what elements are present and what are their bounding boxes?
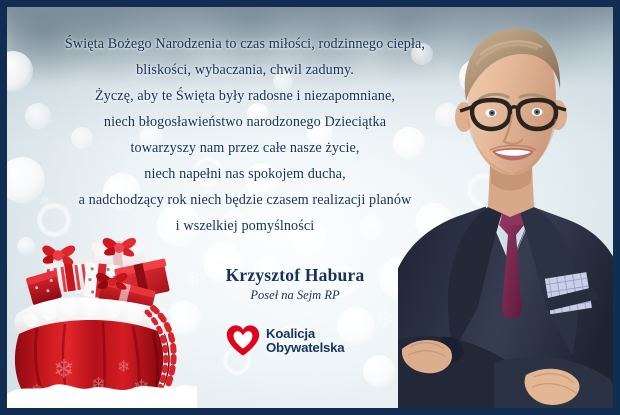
man-in-suit-portrait (398, 7, 613, 408)
heart-icon (226, 325, 260, 356)
svg-text:❄: ❄ (117, 357, 130, 376)
signature-name: Krzysztof Habura (155, 265, 435, 286)
svg-text:❄: ❄ (53, 355, 75, 385)
signature-role: Poseł na Sejm RP (155, 288, 435, 303)
logo-line-1: Koalicja (266, 327, 344, 341)
christmas-greeting-card: ❄ ❄ ❄ ❄ ❄ ❄ ❄ ❄ Święta Bożego Narodzenia… (0, 0, 620, 415)
logo-line-2: Obywatelska (266, 341, 344, 355)
signature-block: Krzysztof Habura Poseł na Sejm RP (155, 265, 435, 303)
logo-wordmark: Koalicja Obywatelska (266, 327, 344, 354)
koalicja-obywatelska-logo: Koalicja Obywatelska (226, 325, 344, 356)
card-canvas: ❄ ❄ ❄ ❄ ❄ ❄ ❄ ❄ Święta Bożego Narodzenia… (7, 7, 613, 408)
